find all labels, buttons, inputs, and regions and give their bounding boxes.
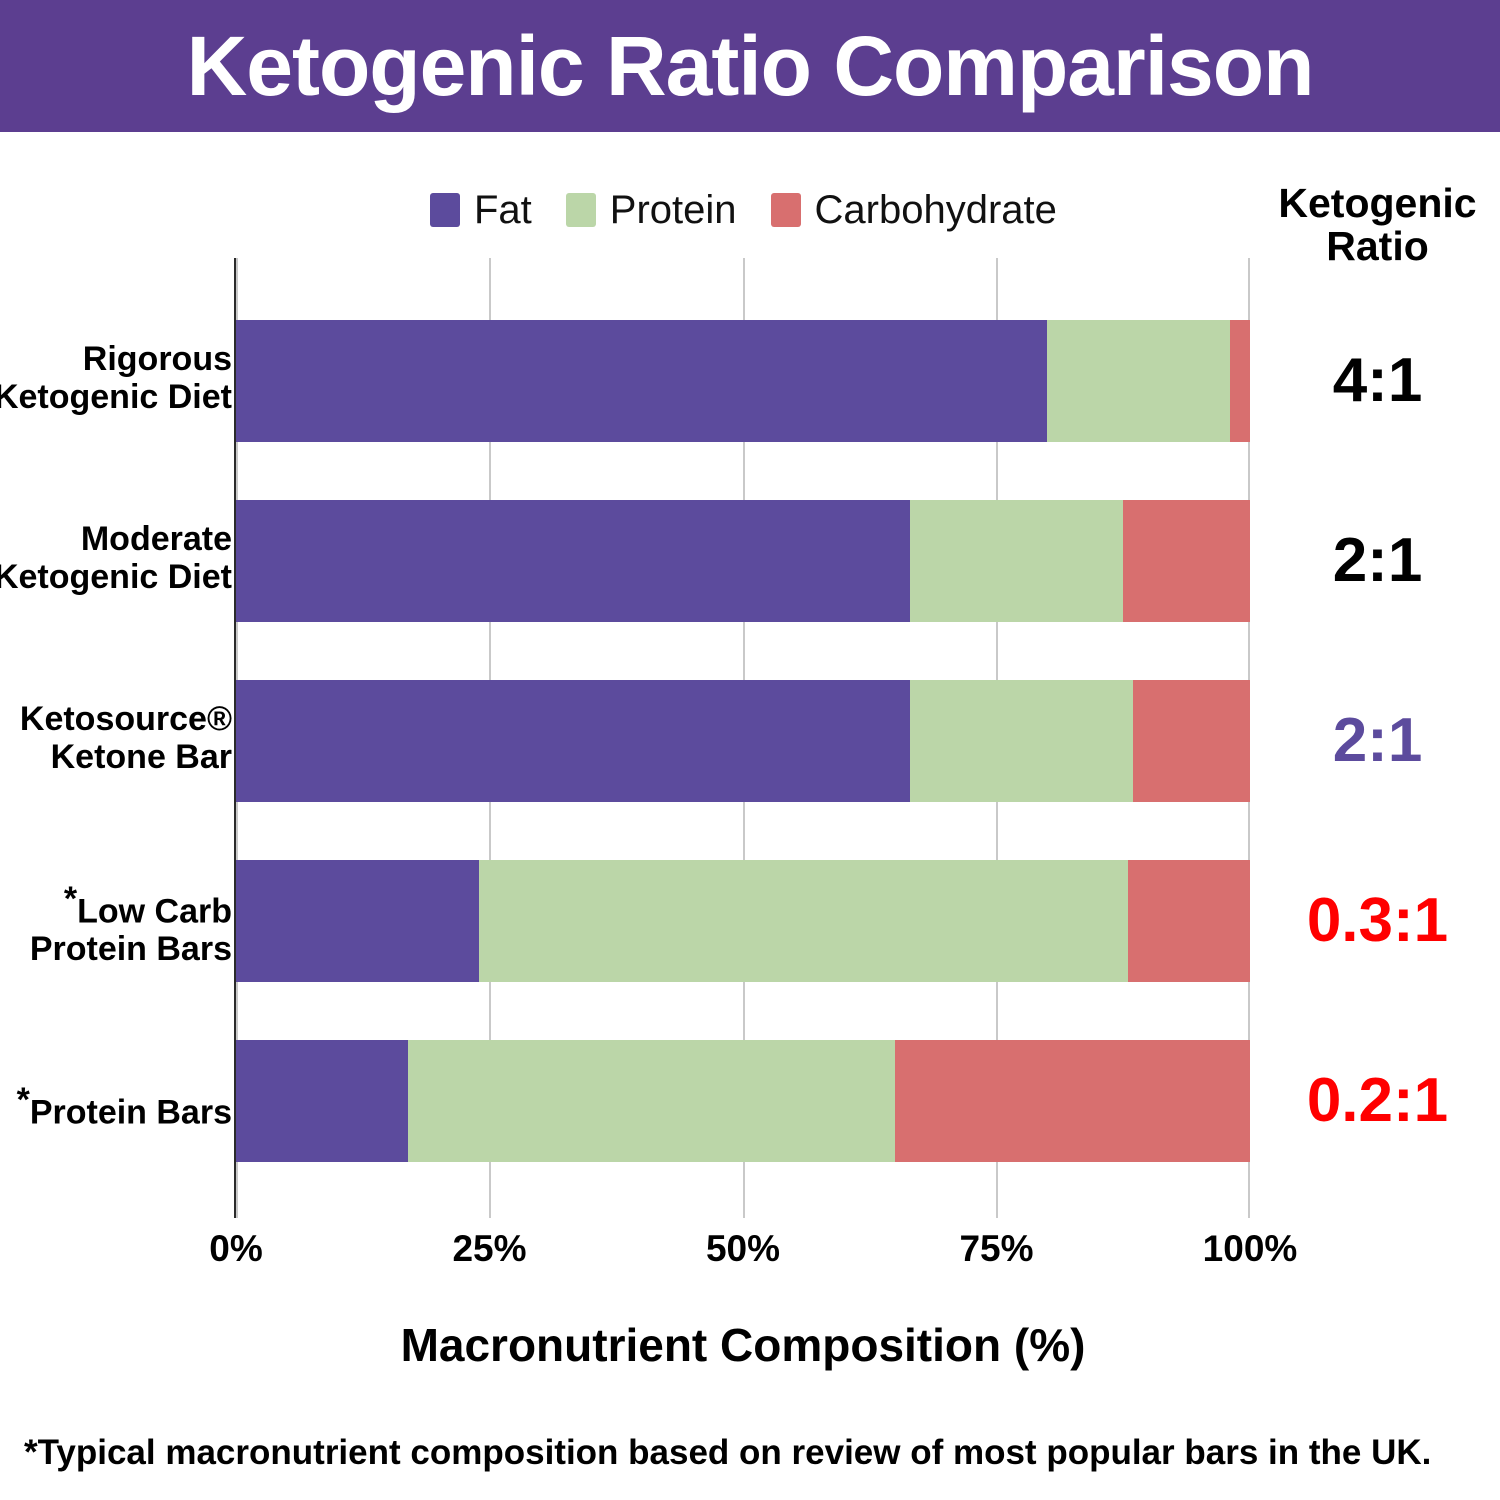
footnote-asterisk: * [64,880,77,918]
bar-segment-fat [236,320,1047,442]
bar-segment-fat [236,500,910,622]
bar-segment-fat [236,860,479,982]
footnote-asterisk: * [17,1081,30,1119]
y-axis-label-line2: Ketogenic Diet [0,558,232,596]
bar-row [236,500,1250,622]
bar-segment-fat [236,680,910,802]
ratio-value-1: 2:1 [1255,530,1500,592]
bar-row [236,860,1250,982]
bar-row [236,680,1250,802]
chart-page: Ketogenic Ratio Comparison Fat Protein C… [0,0,1500,1500]
y-axis-label-3: *Low CarbProtein Bars [0,880,232,968]
footnote: *Typical macronutrient composition based… [24,1434,1484,1473]
legend-item-carbohydrate: Carbohydrate [771,190,1057,230]
ratio-column-header-line2: Ratio [1255,225,1500,268]
bar-segment-protein [910,500,1123,622]
bar-rows [236,258,1250,1218]
ratio-value-0: 4:1 [1255,350,1500,412]
ratio-value-2: 2:1 [1255,710,1500,772]
legend-swatch-carbohydrate-icon [771,193,801,227]
y-axis-label-0: RigorousKetogenic Diet [0,340,232,416]
bar-segment-protein [910,680,1133,802]
bar-segment-protein [1047,320,1230,442]
header-band: Ketogenic Ratio Comparison [0,0,1500,132]
legend-item-fat: Fat [430,190,532,230]
y-axis-label-line1: Moderate [0,520,232,558]
y-axis-label-line2: Ketone Bar [0,738,232,776]
ratio-value-3: 0.3:1 [1255,890,1500,952]
ratio-value-4: 0.2:1 [1255,1070,1500,1132]
y-axis-label-2: Ketosource®Ketone Bar [0,700,232,776]
bar-segment-carbohydrate [1133,680,1250,802]
y-axis-label-line2: Ketogenic Diet [0,378,232,416]
y-axis-label-1: ModerateKetogenic Diet [0,520,232,596]
y-axis-label-line1: Ketosource® [0,700,232,738]
bar-segment-carbohydrate [1230,320,1250,442]
y-axis-label-4: *Protein Bars [0,1081,232,1131]
x-axis-title: Macronutrient Composition (%) [236,1318,1250,1372]
ratio-column-header: Ketogenic Ratio [1255,182,1500,268]
legend-item-protein: Protein [566,190,737,230]
page-title: Ketogenic Ratio Comparison [187,24,1314,108]
ratio-column-header-line1: Ketogenic [1255,182,1500,225]
bar-segment-protein [479,860,1128,982]
x-axis-tick-label: 100% [1203,1228,1298,1270]
plot-area [236,258,1250,1218]
x-axis-tick-label: 50% [706,1228,780,1270]
chart-legend: Fat Protein Carbohydrate [430,190,1057,230]
bar-segment-protein [408,1040,895,1162]
bar-segment-carbohydrate [895,1040,1250,1162]
legend-label-protein: Protein [610,190,737,230]
x-axis-tick-label: 75% [959,1228,1033,1270]
legend-label-carbohydrate: Carbohydrate [815,190,1057,230]
bar-row [236,320,1250,442]
bar-row [236,1040,1250,1162]
x-axis-tick-label: 0% [209,1228,262,1270]
bar-segment-carbohydrate [1128,860,1250,982]
y-axis-label-line1: *Protein Bars [0,1081,232,1131]
y-axis-label-line2: Protein Bars [0,930,232,968]
bar-segment-fat [236,1040,408,1162]
x-axis-ticks: 0%25%50%75%100% [236,1228,1250,1278]
x-axis-tick-label: 25% [452,1228,526,1270]
y-axis-label-line1: Rigorous [0,340,232,378]
y-axis-label-line1: *Low Carb [0,880,232,930]
legend-swatch-protein-icon [566,193,596,227]
legend-label-fat: Fat [474,190,532,230]
bar-segment-carbohydrate [1123,500,1250,622]
legend-swatch-fat-icon [430,193,460,227]
